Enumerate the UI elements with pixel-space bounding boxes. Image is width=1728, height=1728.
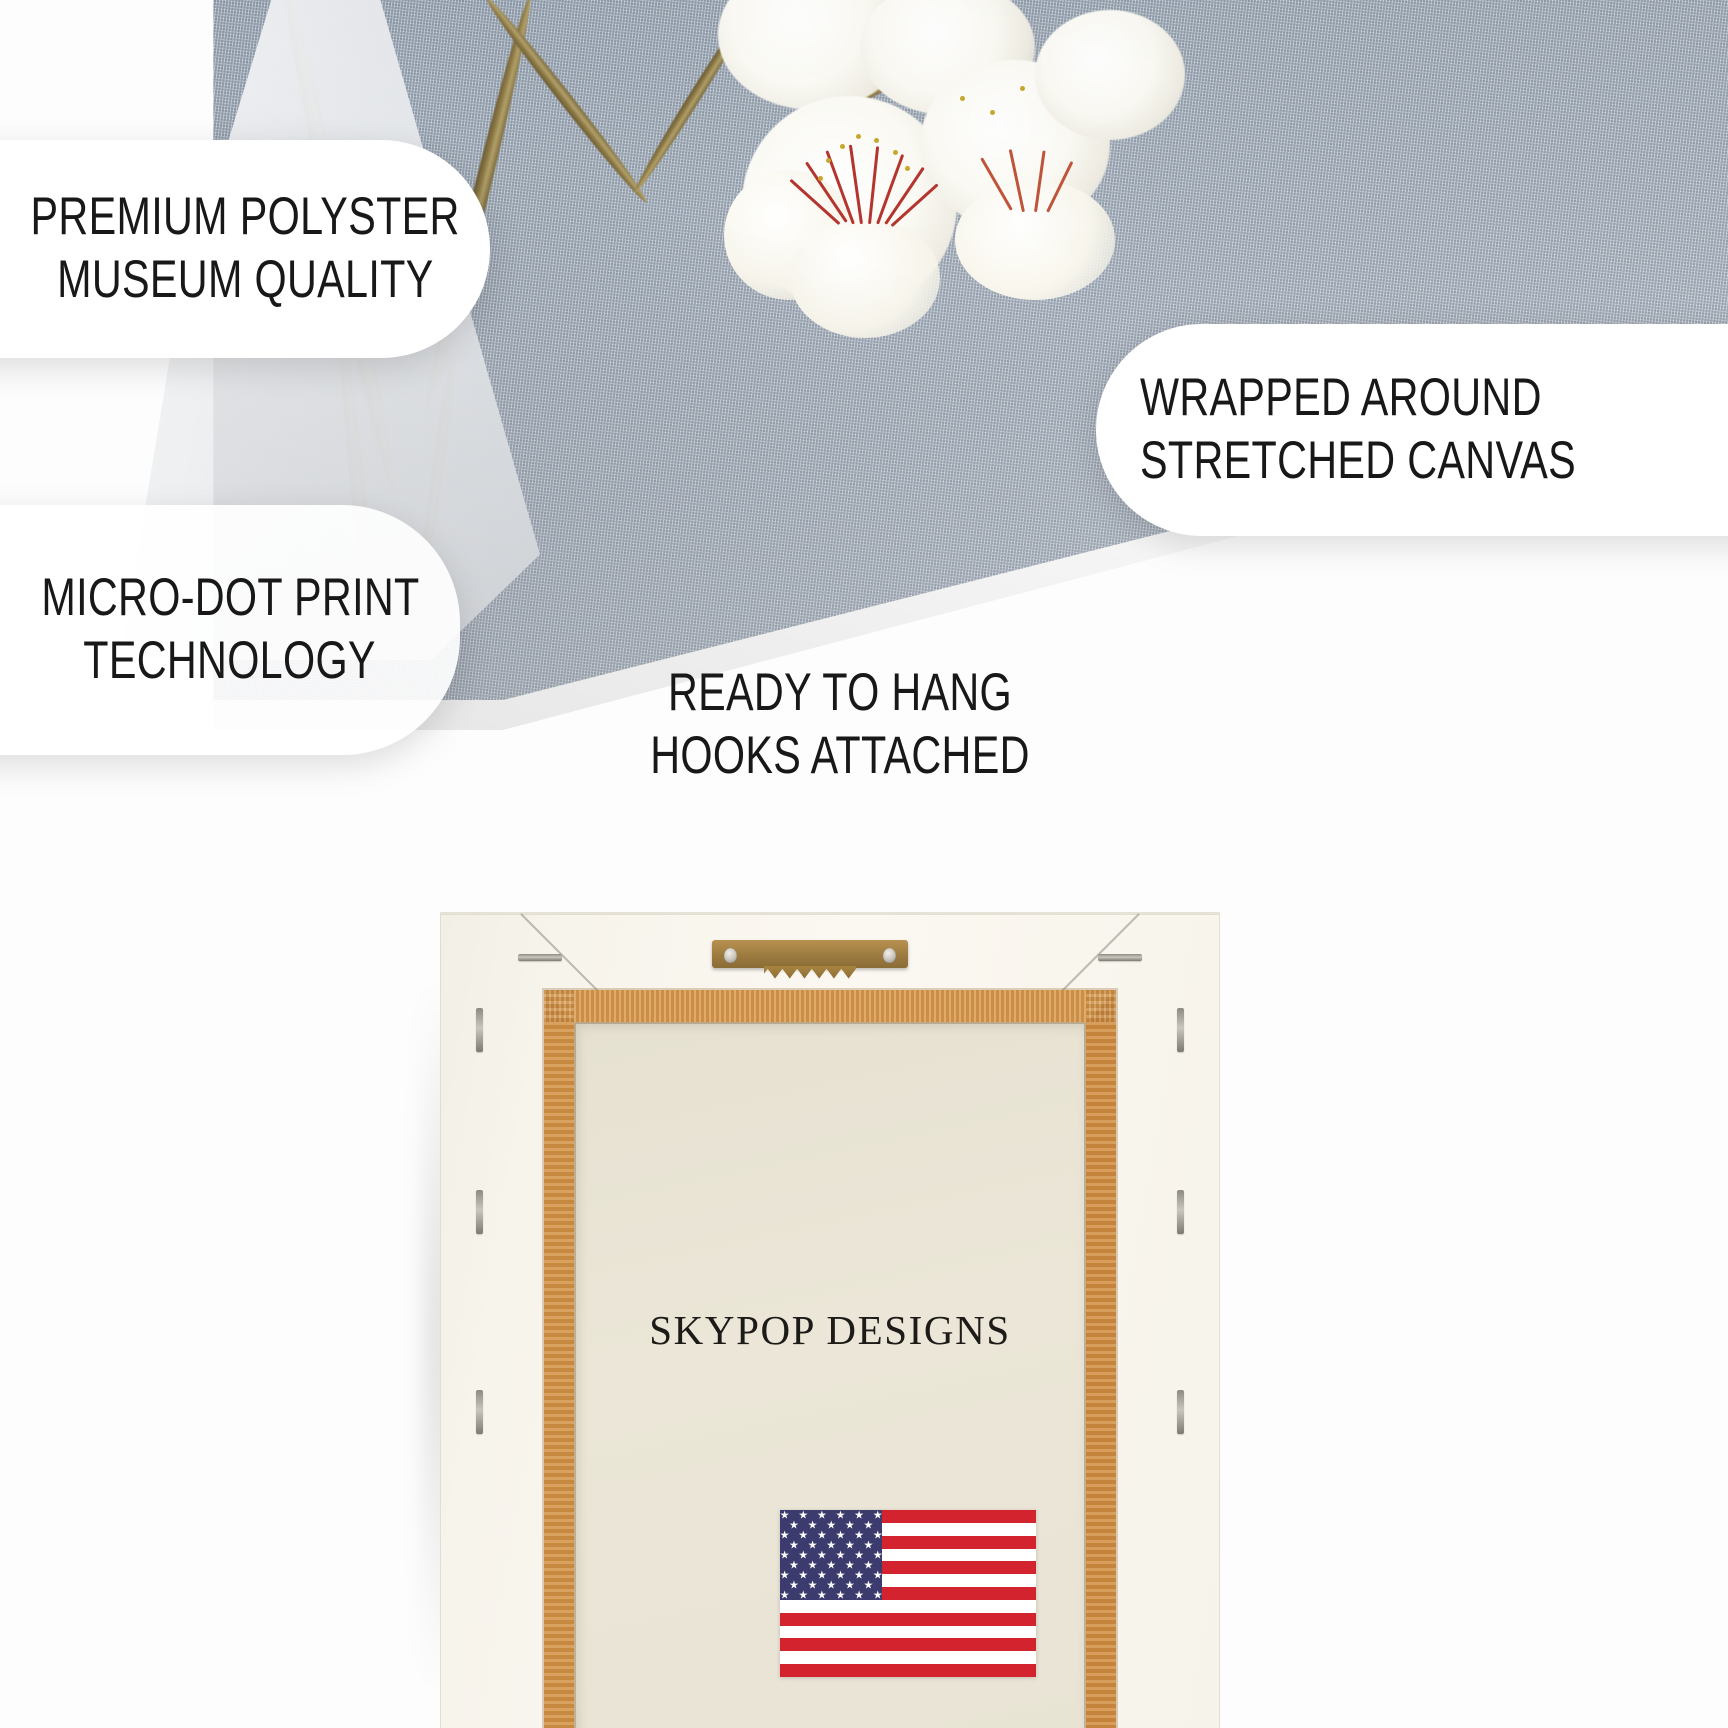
canvas-back-view: SKYPOP DESIGNS (440, 912, 1220, 1728)
flag-star (808, 1540, 817, 1549)
petal-center-bottom (790, 218, 940, 338)
flag-stripe (780, 1626, 1036, 1639)
staple (476, 1390, 483, 1434)
flag-star (817, 1590, 826, 1599)
feature-line-1: PREMIUM POLYSTER (30, 186, 459, 249)
feature-line-1: READY TO HANG (622, 662, 1059, 725)
flag-star (827, 1560, 836, 1569)
hanger-screw-left-icon (724, 948, 737, 963)
flag-star-spacer (789, 1550, 798, 1559)
flag-star-spacer (817, 1520, 826, 1529)
flag-star (873, 1530, 882, 1539)
flag-star (827, 1520, 836, 1529)
flag-star (780, 1570, 789, 1579)
flag-star (873, 1570, 882, 1579)
flag-stripe (780, 1638, 1036, 1651)
flag-star-spacer (855, 1520, 864, 1529)
brand-label: SKYPOP DESIGNS (440, 1306, 1220, 1354)
flag-stripe (780, 1613, 1036, 1626)
pollen-dot (990, 110, 995, 115)
flag-star-spacer (836, 1580, 845, 1589)
feature-badge-premium-polyster: PREMIUM POLYSTER MUSEUM QUALITY (0, 140, 490, 358)
flag-star-spacer (855, 1580, 864, 1589)
flag-star-spacer (864, 1550, 873, 1559)
flag-star-spacer (864, 1590, 873, 1599)
flag-star (799, 1510, 808, 1519)
flag-star (780, 1550, 789, 1559)
staple (1177, 1008, 1184, 1052)
flag-star (799, 1550, 808, 1559)
flag-star (873, 1590, 882, 1599)
flag-star (864, 1520, 873, 1529)
pollen-dot (856, 134, 861, 139)
flag-star (789, 1580, 798, 1589)
staple (1098, 954, 1142, 961)
staple (1177, 1390, 1184, 1434)
flag-star (789, 1520, 798, 1529)
flag-star (808, 1560, 817, 1569)
pollen-dot (818, 176, 823, 181)
blossom-far-right (1035, 10, 1185, 140)
flag-star (827, 1540, 836, 1549)
staple (1177, 1190, 1184, 1234)
flag-star-spacer (789, 1530, 798, 1539)
flag-star-spacer (799, 1520, 808, 1529)
flag-star-spacer (845, 1530, 854, 1539)
flag-star (836, 1570, 845, 1579)
pollen-dot (960, 96, 965, 101)
flag-star (836, 1510, 845, 1519)
flag-star-spacer (827, 1570, 836, 1579)
flag-star-spacer (836, 1540, 845, 1549)
feature-line-1: MICRO-DOT PRINT (41, 567, 419, 630)
flag-star-spacer (817, 1580, 826, 1589)
flag-star-spacer (873, 1560, 882, 1569)
flag-star-spacer (780, 1580, 789, 1589)
flag-star (817, 1510, 826, 1519)
pollen-dot (874, 138, 879, 143)
flag-star (836, 1590, 845, 1599)
flag-star-spacer (864, 1510, 873, 1519)
flag-star-spacer (808, 1530, 817, 1539)
flag-star-spacer (845, 1510, 854, 1519)
flag-star (855, 1530, 864, 1539)
flag-star (780, 1590, 789, 1599)
flag-star (873, 1550, 882, 1559)
flag-star (855, 1510, 864, 1519)
flag-star-spacer (808, 1590, 817, 1599)
flag-star-spacer (799, 1580, 808, 1589)
flag-star-spacer (873, 1540, 882, 1549)
flag-star (817, 1550, 826, 1559)
flag-star-spacer (845, 1570, 854, 1579)
flag-star-spacer (864, 1570, 873, 1579)
flag-stripe (780, 1664, 1036, 1677)
flag-star-spacer (827, 1590, 836, 1599)
flag-star-spacer (789, 1590, 798, 1599)
flag-star-spacer (799, 1540, 808, 1549)
hanger-teeth (764, 966, 856, 980)
flag-star-spacer (780, 1540, 789, 1549)
flag-star (855, 1550, 864, 1559)
pollen-dot (1020, 86, 1025, 91)
flag-star (799, 1570, 808, 1579)
flag-star (836, 1530, 845, 1539)
flag-star-spacer (827, 1530, 836, 1539)
flag-star-spacer (845, 1590, 854, 1599)
flag-star-spacer (836, 1560, 845, 1569)
flag-star-spacer (789, 1510, 798, 1519)
flag-star (789, 1540, 798, 1549)
flag-star-spacer (827, 1550, 836, 1559)
feature-badge-wrapped-around: WRAPPED AROUND STRETCHED CANVAS (1096, 324, 1728, 536)
flag-stripe (780, 1651, 1036, 1664)
staple (476, 1008, 483, 1052)
flag-star (817, 1570, 826, 1579)
infographic-canvas: PREMIUM POLYSTER MUSEUM QUALITY WRAPPED … (0, 0, 1728, 1728)
flag-star-spacer (864, 1530, 873, 1539)
flag-star-grid (780, 1510, 882, 1600)
flag-star-spacer (873, 1580, 882, 1589)
flag-star-spacer (780, 1560, 789, 1569)
flag-star (845, 1520, 854, 1529)
feature-line-2: HOOKS ATTACHED (622, 725, 1059, 788)
flag-star (827, 1580, 836, 1589)
flag-star (864, 1580, 873, 1589)
flag-star-spacer (817, 1560, 826, 1569)
flag-star (873, 1510, 882, 1519)
flag-star-spacer (799, 1560, 808, 1569)
flag-canton (780, 1510, 882, 1600)
hanger-screw-right-icon (883, 948, 896, 963)
staple (518, 954, 562, 961)
feature-line-2: TECHNOLOGY (84, 630, 377, 693)
flag-star-spacer (808, 1550, 817, 1559)
pollen-dot (905, 166, 910, 171)
flag-star-spacer (780, 1520, 789, 1529)
flag-star-spacer (827, 1510, 836, 1519)
flag-star (864, 1540, 873, 1549)
hanger-plate (712, 940, 908, 968)
flag-star (836, 1550, 845, 1559)
us-flag-icon (780, 1510, 1036, 1677)
feature-line-1: WRAPPED AROUND (1140, 367, 1542, 430)
flag-star-spacer (855, 1560, 864, 1569)
flag-star-spacer (817, 1540, 826, 1549)
flag-star (780, 1530, 789, 1539)
pollen-dot (893, 150, 898, 155)
feature-line-2: STRETCHED CANVAS (1140, 430, 1576, 493)
pollen-dot (826, 158, 831, 163)
flag-star-spacer (789, 1570, 798, 1579)
flag-star-spacer (808, 1510, 817, 1519)
flag-star (855, 1570, 864, 1579)
flag-star-spacer (836, 1520, 845, 1529)
feature-badge-micro-dot-print: MICRO-DOT PRINT TECHNOLOGY (0, 505, 460, 755)
flag-star (799, 1530, 808, 1539)
sawtooth-hanger-icon (712, 940, 908, 980)
flag-star (808, 1520, 817, 1529)
flag-star (817, 1530, 826, 1539)
staple (476, 1190, 483, 1234)
flag-star-spacer (808, 1570, 817, 1579)
flag-stripe (780, 1600, 1036, 1613)
flag-star (845, 1540, 854, 1549)
flag-star (780, 1510, 789, 1519)
flag-star (845, 1560, 854, 1569)
feature-line-2: MUSEUM QUALITY (57, 249, 433, 312)
flag-star (845, 1580, 854, 1589)
flag-star-spacer (873, 1520, 882, 1529)
flag-star (808, 1580, 817, 1589)
flag-star-spacer (855, 1540, 864, 1549)
flag-star (799, 1590, 808, 1599)
flag-star-spacer (845, 1550, 854, 1559)
pollen-dot (840, 144, 845, 149)
feature-label-ready-to-hang: READY TO HANG HOOKS ATTACHED (560, 662, 1120, 787)
flag-star (855, 1590, 864, 1599)
flag-star (789, 1560, 798, 1569)
flag-star (864, 1560, 873, 1569)
